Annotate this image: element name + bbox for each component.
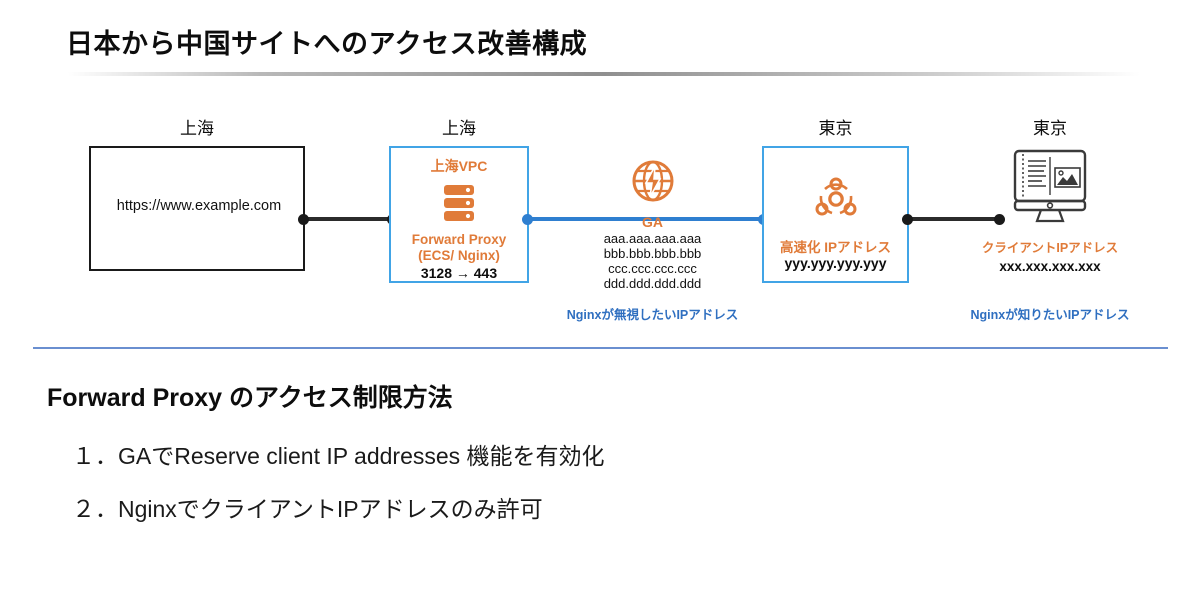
list-item: ２．NginxでクライアントIPアドレスのみ許可 bbox=[72, 490, 543, 524]
page-title: 日本から中国サイトへのアクセス改善構成 bbox=[66, 22, 587, 61]
client-region-label: 東京 bbox=[975, 114, 1125, 139]
global-accelerator-group: GA aaa.aaa.aaa.aaa bbb.bbb.bbb.bbb ccc.c… bbox=[565, 158, 740, 291]
ga-ip-2: bbb.bbb.bbb.bbb bbox=[565, 246, 740, 261]
tokyo-accelerator-ip: yyy.yyy.yyy.yyy bbox=[764, 255, 907, 271]
ga-name: GA bbox=[565, 214, 740, 230]
shanghai-vpc-box[interactable]: 上海VPC Forward Proxy (ECS/ Nginx) 3128 → … bbox=[389, 146, 529, 283]
vpc-service-line1: Forward Proxy bbox=[391, 232, 527, 247]
server-stack-icon bbox=[442, 184, 476, 229]
vpc-port-mapping: 3128 → 443 bbox=[391, 265, 527, 281]
list-item: １．GAでReserve client IP addresses 機能を有効化 bbox=[72, 437, 605, 471]
ga-ip-4: ddd.ddd.ddd.ddd bbox=[565, 276, 740, 291]
ga-ip-list: aaa.aaa.aaa.aaa bbb.bbb.bbb.bbb ccc.ccc.… bbox=[565, 231, 740, 291]
tokyo-region-label: 東京 bbox=[762, 114, 909, 139]
client-ip-label: クライアントIPアドレス bbox=[975, 237, 1125, 256]
vpc-service-line2: (ECS/ Nginx) bbox=[391, 248, 527, 263]
architecture-diagram: 上海 https://www.example.com 上海 上海VPC Forw… bbox=[0, 96, 1200, 336]
connector-origin-to-vpc bbox=[303, 217, 393, 221]
tokyo-accelerator-label: 高速化 IPアドレス bbox=[764, 236, 907, 256]
section-divider bbox=[33, 347, 1168, 349]
connector-dot-origin bbox=[298, 214, 309, 225]
section-heading: Forward Proxy のアクセス制限方法 bbox=[47, 378, 453, 414]
connector-dot-vpc-right bbox=[522, 214, 533, 225]
vpc-title: 上海VPC bbox=[391, 156, 527, 176]
client-group[interactable]: クライアントIPアドレス xxx.xxx.xxx.xxx bbox=[975, 148, 1125, 274]
ga-ip-1: aaa.aaa.aaa.aaa bbox=[565, 231, 740, 246]
tokyo-accelerator-box[interactable]: 高速化 IPアドレス yyy.yyy.yyy.yyy bbox=[762, 146, 909, 283]
client-ip-value: xxx.xxx.xxx.xxx bbox=[975, 259, 1125, 274]
origin-url-text: https://www.example.com bbox=[91, 198, 307, 214]
vpc-region-label: 上海 bbox=[389, 114, 529, 139]
cluster-nodes-icon bbox=[813, 176, 859, 227]
desktop-monitor-icon bbox=[975, 148, 1125, 231]
globe-lightning-icon bbox=[565, 158, 740, 209]
ga-ip-3: ccc.ccc.ccc.ccc bbox=[565, 261, 740, 276]
connector-dot-tokyo-right bbox=[902, 214, 913, 225]
title-divider bbox=[68, 72, 1140, 76]
client-note: Nginxが知りたいIPアドレス bbox=[960, 304, 1140, 323]
origin-site-box[interactable]: https://www.example.com bbox=[89, 146, 305, 271]
ga-note: Nginxが無視したいIPアドレス bbox=[565, 304, 740, 323]
origin-region-label: 上海 bbox=[124, 114, 270, 139]
